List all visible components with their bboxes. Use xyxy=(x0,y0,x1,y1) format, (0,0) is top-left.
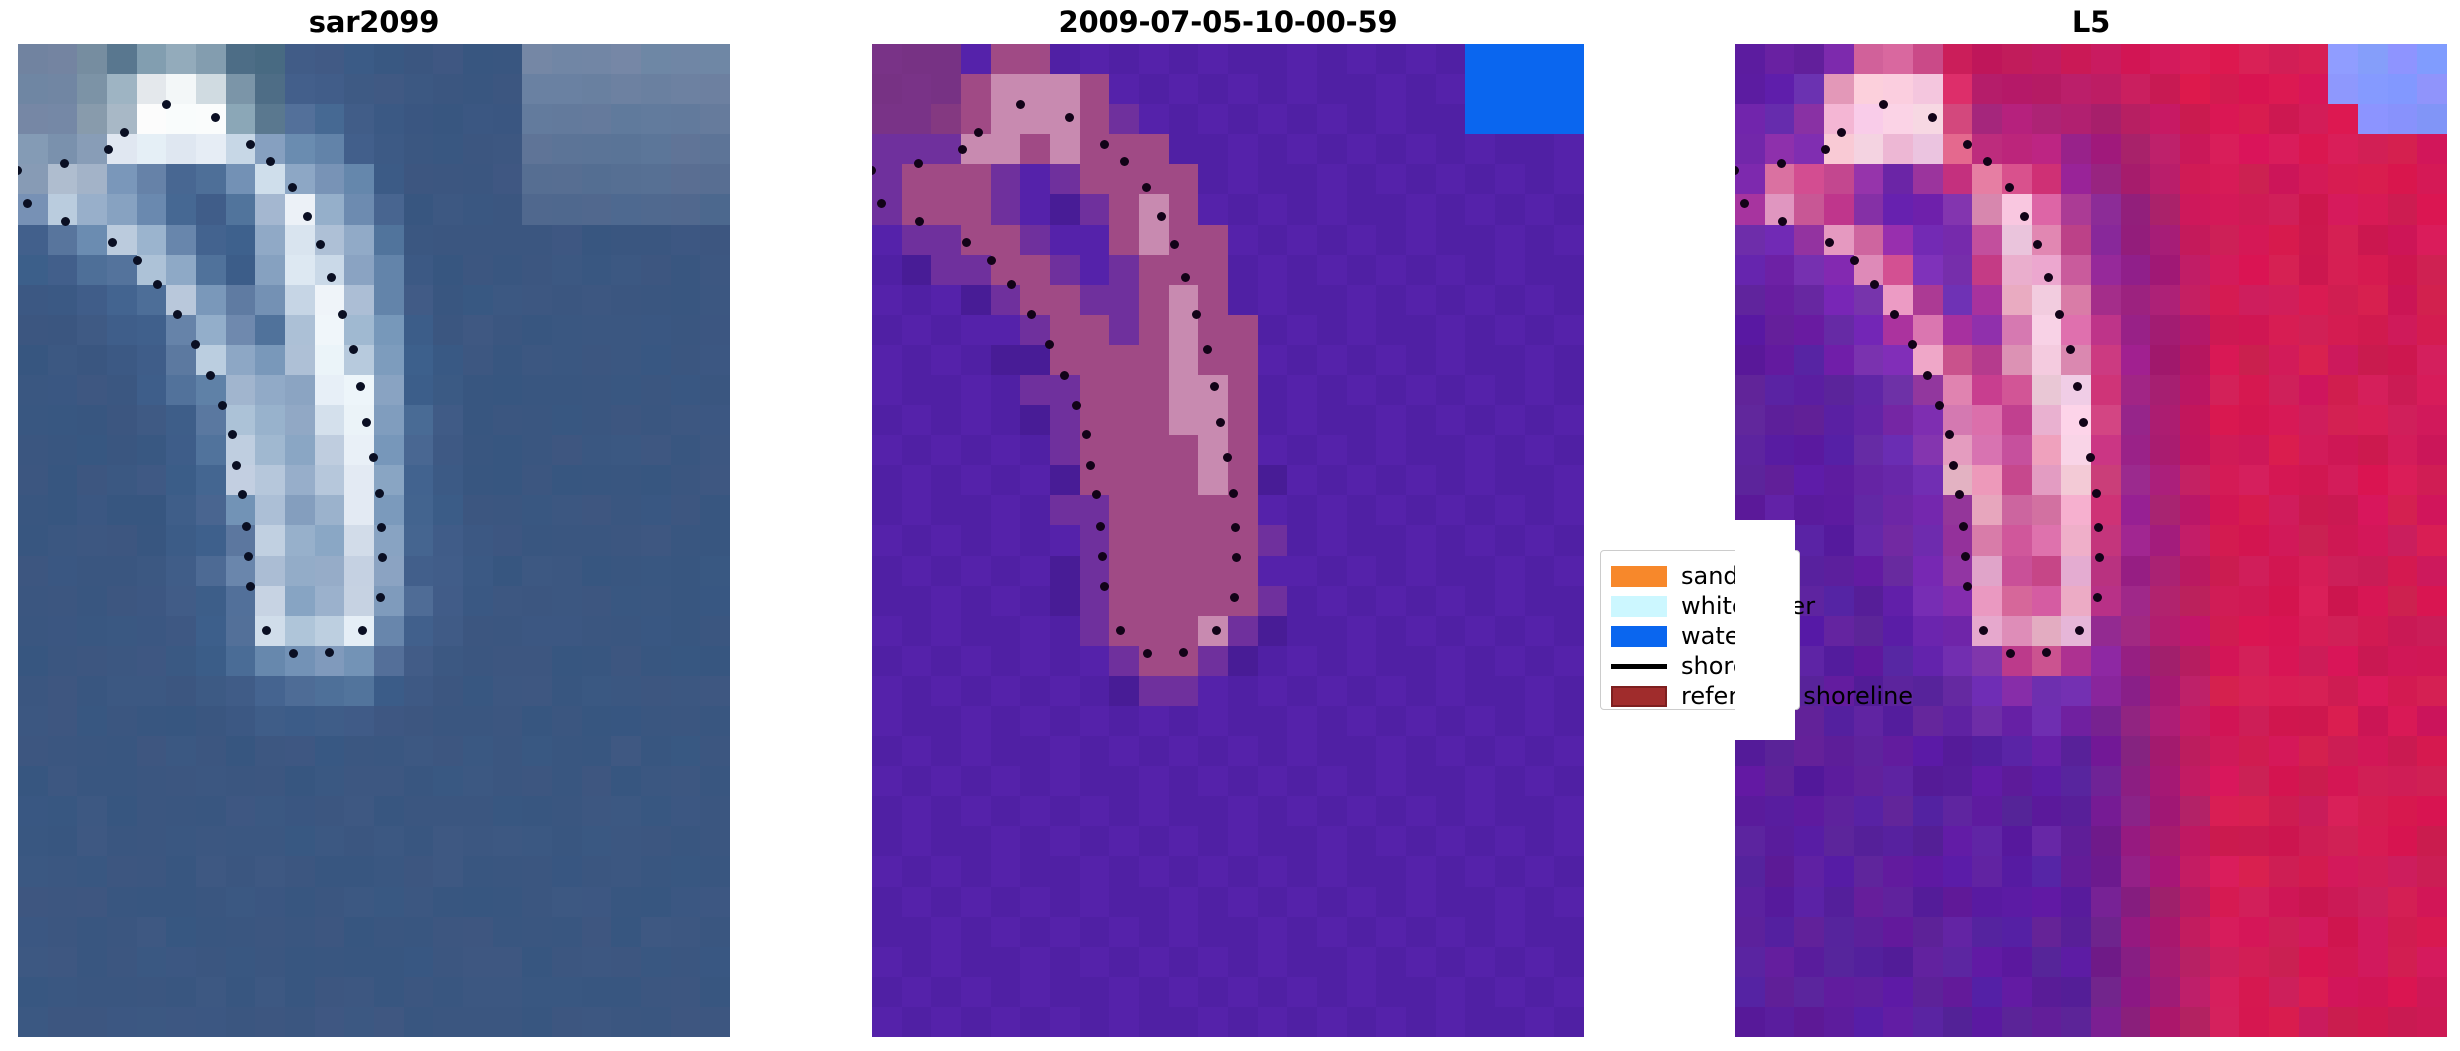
legend-clip-mask xyxy=(1735,520,1795,740)
shoreline-line-icon xyxy=(1611,664,1667,669)
whitewater-swatch-icon xyxy=(1611,596,1667,617)
sand-swatch-icon xyxy=(1611,566,1667,587)
classified-image xyxy=(872,44,1584,1037)
figure-canvas: sar2099 2009-07-05-10-00-59 L5 sand whit… xyxy=(0,0,2460,1051)
legend-label-sand: sand xyxy=(1681,564,1739,588)
l5-image xyxy=(1735,44,2447,1037)
panel-sar: sar2099 xyxy=(18,0,730,1037)
reference-swatch-icon xyxy=(1611,686,1667,707)
panel-classified: 2009-07-05-10-00-59 xyxy=(872,0,1584,1037)
panel-title-sar: sar2099 xyxy=(18,0,730,44)
sar-image xyxy=(18,44,730,1037)
panel-l5: L5 xyxy=(1735,0,2447,1037)
panel-title-classified: 2009-07-05-10-00-59 xyxy=(872,0,1584,44)
legend-label-reference: reference shoreline xyxy=(1681,684,1913,708)
panel-title-l5: L5 xyxy=(1735,0,2447,44)
water-swatch-icon xyxy=(1611,626,1667,647)
